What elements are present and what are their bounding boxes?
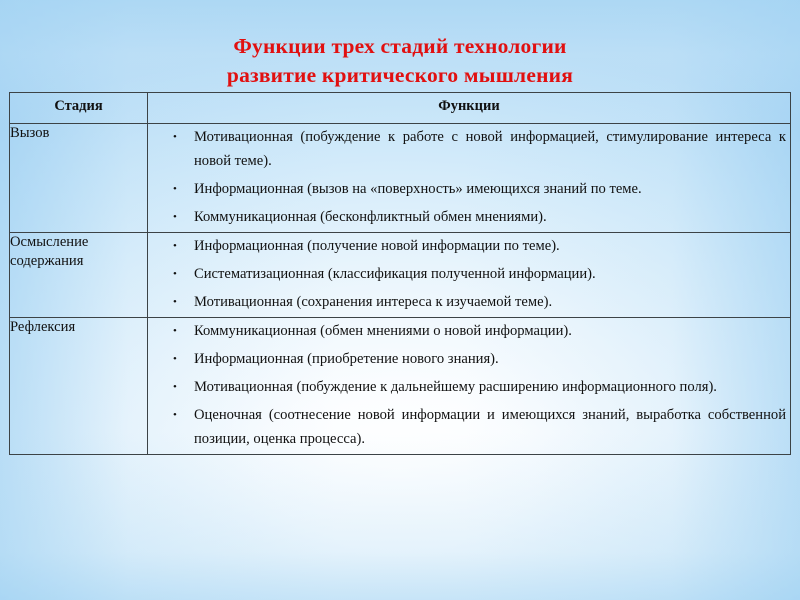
function-list: Коммуникационная (обмен мнениями о новой… (148, 318, 790, 454)
function-list: Информационная (получение новой информац… (148, 233, 790, 317)
page-title-line-2: развитие критического мышления (0, 61, 800, 90)
list-item: Мотивационная (сохранения интереса к изу… (148, 289, 790, 317)
stage-cell-osmyslenie: Осмысление содержания (10, 233, 148, 318)
stage-cell-vyzov: Вызов (10, 124, 148, 233)
slide-canvas: Функции трех стадий технологии развитие … (0, 0, 800, 600)
list-item: Информационная (вызов на «поверхность» и… (148, 176, 790, 204)
table-header-row: Стадия Функции (10, 93, 791, 124)
list-item: Мотивационная (побуждение к дальнейшему … (148, 374, 790, 402)
list-item: Мотивационная (побуждение к работе с нов… (148, 124, 790, 176)
column-header-stage: Стадия (10, 93, 148, 124)
table-header: Стадия Функции (10, 93, 791, 124)
table-row: Рефлексия Коммуникационная (обмен мнения… (10, 318, 791, 455)
functions-cell-osmyslenie: Информационная (получение новой информац… (148, 233, 791, 318)
column-header-functions: Функции (148, 93, 791, 124)
functions-cell-vyzov: Мотивационная (побуждение к работе с нов… (148, 124, 791, 233)
list-item: Информационная (получение новой информац… (148, 233, 790, 261)
function-list: Мотивационная (побуждение к работе с нов… (148, 124, 790, 232)
functions-cell-refleksiya: Коммуникационная (обмен мнениями о новой… (148, 318, 791, 455)
table-row: Осмысление содержания Информационная (по… (10, 233, 791, 318)
page-title: Функции трех стадий технологии развитие … (0, 32, 800, 90)
stage-cell-refleksiya: Рефлексия (10, 318, 148, 455)
functions-table: Стадия Функции Вызов Мотивационная (побу… (9, 92, 791, 455)
page-title-line-1: Функции трех стадий технологии (0, 32, 800, 61)
list-item: Коммуникационная (обмен мнениями о новой… (148, 318, 790, 346)
list-item: Оценочная (соотнесение новой информации … (148, 402, 790, 454)
list-item: Информационная (приобретение нового знан… (148, 346, 790, 374)
table-row: Вызов Мотивационная (побуждение к работе… (10, 124, 791, 233)
list-item: Коммуникационная (бесконфликтный обмен м… (148, 204, 790, 232)
list-item: Систематизационная (классификация получе… (148, 261, 790, 289)
table-body: Вызов Мотивационная (побуждение к работе… (10, 124, 791, 455)
